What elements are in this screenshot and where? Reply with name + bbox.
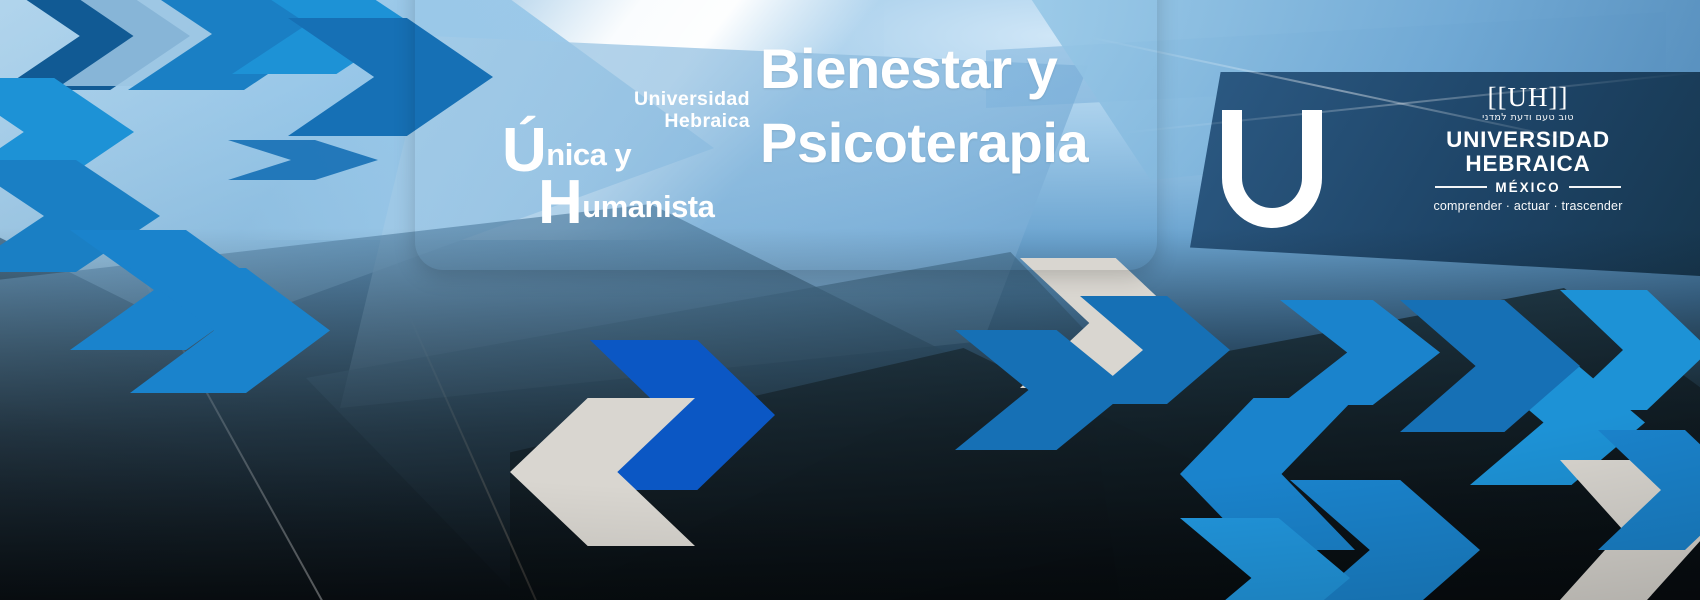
universidad-hebraica-logo: [[UH]] טוב טעם ודעת למדני UNIVERSIDAD HE… [1378,84,1678,213]
logo-tagline: comprender · actuar · trascender [1378,199,1678,213]
logo-name-line1: UNIVERSIDAD [1378,128,1678,152]
u-letter-mark-icon [1222,110,1322,228]
logo-monogram-icon: [[UH]] [1378,84,1678,111]
logo-country: MÉXICO [1495,180,1560,195]
lockup-universidad-word: Universidad [634,88,750,110]
lockup-slogan-line2: Humanista [538,178,714,228]
lockup-slogan: Única y Humanista [502,126,714,227]
banner-title: Bienestar y Psicoterapia [760,32,1088,180]
logo-rule-left [1435,186,1487,188]
unica-humanista-lockup: Universidad Hebraica Única y Humanista [460,88,750,228]
logo-rule-right [1569,186,1621,188]
logo-name: UNIVERSIDAD HEBRAICA [1378,128,1678,177]
logo-hebrew-motto: טוב טעם ודעת למדני [1378,112,1678,123]
lockup-slogan-line1: Única y [502,126,714,176]
title-line-1: Bienestar y [760,32,1088,106]
logo-name-line2: HEBRAICA [1378,152,1678,176]
title-line-2: Psicoterapia [760,106,1088,180]
promotional-banner: Universidad Hebraica Única y Humanista B… [0,0,1700,600]
green-title-panel: Universidad Hebraica Única y Humanista B… [415,0,1157,270]
logo-country-row: MÉXICO [1378,180,1678,195]
